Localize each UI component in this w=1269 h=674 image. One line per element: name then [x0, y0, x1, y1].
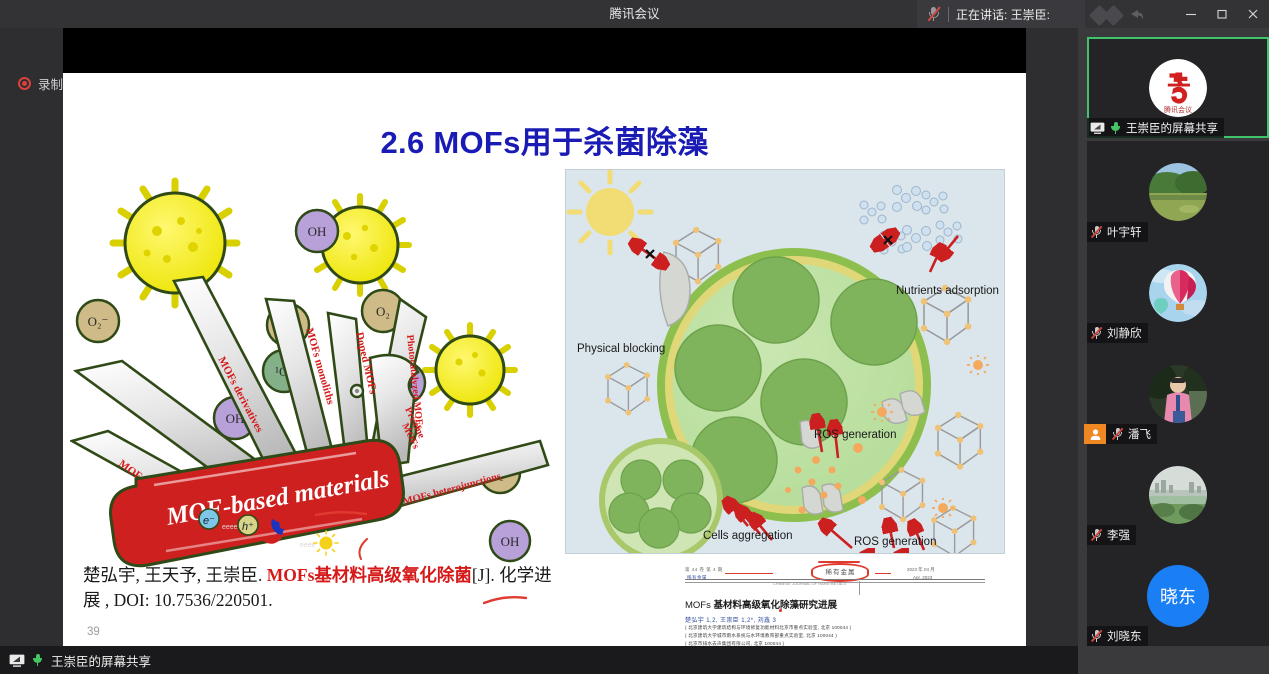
paper-affiliation-2: ( 北京建筑大学城市雨水系统与水环境教育部重点实验室, 北京 100044 ) — [685, 633, 837, 639]
avatar — [1149, 264, 1207, 322]
avatar: 晓东 — [1147, 565, 1209, 627]
slide-citation: 楚弘宇, 王天予, 王崇臣. MOFs基材料高级氧化除菌[J]. 化学进展 , … — [83, 563, 553, 614]
participant-name: 王崇臣的屏幕共享 — [1126, 120, 1218, 136]
bottom-status-bar: 王崇臣的屏幕共享 — [0, 646, 1078, 674]
paper-authors: 楚弘宇 1,2, 王崇臣 1,2*, 刘鑫 3 — [685, 615, 776, 624]
annotation-line-right — [875, 573, 891, 574]
slide-title: 2.6 MOFs用于杀菌除藻 — [63, 117, 1026, 162]
participant-name: 叶宇轩 — [1107, 224, 1142, 240]
paper-title: MOFs 基材料高级氧化除藻研究进展 — [685, 597, 837, 611]
microphone-muted-icon — [1090, 528, 1103, 542]
svg-text:OH: OH — [501, 534, 520, 549]
participant-tile-4[interactable]: 潘飞 — [1087, 343, 1269, 444]
paper-meta-right: 2023 年 04 月 — [907, 567, 935, 573]
active-speaker-label: 正在讲话: 王崇臣: — [956, 6, 1050, 23]
avatar — [1149, 466, 1207, 524]
participant-namebar: 李强 — [1087, 525, 1136, 545]
participant-name: 潘飞 — [1128, 426, 1151, 442]
microphone-muted-icon — [926, 6, 941, 22]
participant-namebar: 刘静欣 — [1087, 323, 1148, 343]
diamond-right-icon[interactable] — [1103, 5, 1124, 26]
paper-side-mark — [859, 581, 860, 595]
pen-annotation-1 — [315, 505, 367, 513]
host-badge-icon — [1084, 424, 1106, 444]
slide-page-number: 39 — [87, 626, 100, 638]
annotation-dot — [779, 609, 782, 612]
svg-text:OH: OH — [308, 224, 327, 239]
participant-tile-3[interactable]: 刘静欣 — [1087, 242, 1269, 343]
maximize-button[interactable] — [1206, 0, 1237, 28]
participant-tile-6[interactable]: 晓东 刘晓东 — [1087, 545, 1269, 646]
active-speaker-chip: 正在讲话: 王崇臣: — [917, 0, 1085, 28]
paper-title-main: 基材料高级氧化除藻研究进展 — [714, 600, 838, 611]
undo-arrow-icon[interactable] — [1126, 8, 1145, 23]
avatar: 腾讯会议 — [1149, 59, 1207, 117]
svg-text:O₂⁻: O₂⁻ — [88, 314, 109, 329]
microphone-muted-icon — [1111, 427, 1124, 441]
paper-header-rule2 — [685, 582, 985, 583]
meeting-window: 腾讯会议 正在讲话: 王崇臣: — [0, 0, 1269, 674]
label-cells-aggregation: Cells aggregation — [703, 530, 793, 542]
record-dot-icon — [18, 77, 31, 90]
annotation-stroke — [818, 561, 860, 563]
window-controls[interactable] — [1175, 0, 1269, 28]
participant-name: 刘晓东 — [1107, 628, 1142, 644]
shared-screen-area: 录制中 2.6 MOFs用于杀菌除藻 — [0, 28, 1078, 674]
citation-highlight: MOFs基材料高级氧化除菌 — [267, 565, 472, 585]
label-nutrients-adsorption: Nutrients adsorption — [896, 285, 999, 297]
presentation-slide: 2.6 MOFs用于杀菌除藻 — [63, 73, 1026, 656]
window-glyph-cluster[interactable] — [1090, 4, 1162, 26]
figure-algae-mechanism: Physical blocking Nutrients adsorption R… — [565, 169, 1005, 554]
chip-divider — [948, 7, 949, 22]
pen-annotation-3 — [483, 593, 527, 605]
pen-annotation-2 — [353, 538, 373, 560]
svg-text:e⁻: e⁻ — [203, 515, 215, 527]
participant-panel[interactable]: 腾讯会议 王崇臣的屏幕共享 — [1078, 28, 1269, 674]
svg-text:eeee: eeee — [222, 524, 238, 531]
annotation-line-left — [725, 573, 773, 574]
microphone-muted-icon — [1090, 326, 1103, 340]
screen-share-icon — [9, 654, 24, 667]
participant-namebar: 刘晓东 — [1087, 626, 1148, 646]
citation-authors: 楚弘宇, 王天予, 王崇臣. — [83, 565, 262, 585]
close-button[interactable] — [1237, 0, 1268, 28]
avatar — [1149, 163, 1207, 221]
paper-affiliation-1: ( 北京建筑大学建筑结构与环境修复功能材料北京市重点实验室, 北京 100044… — [685, 625, 851, 631]
avatar-initials: 晓东 — [1160, 583, 1196, 609]
microphone-on-icon — [31, 653, 44, 667]
svg-text:h⁺: h⁺ — [242, 521, 254, 533]
paper-meta-left: 第 44 卷 第 4 期 — [685, 567, 723, 573]
microphone-muted-icon — [1090, 225, 1103, 239]
participant-tile-2[interactable]: 叶宇轩 — [1087, 141, 1269, 242]
participant-name: 李强 — [1107, 527, 1130, 543]
shared-video-frame: 2.6 MOFs用于杀菌除藻 — [63, 28, 1026, 648]
paper-preview-thumbnail: 第 44 卷 第 4 期 稀有金属 2023 年 04 月 Apr. 2023 … — [663, 561, 1008, 653]
participant-tile-5[interactable]: 李强 — [1087, 444, 1269, 545]
bottom-share-label: 王崇臣的屏幕共享 — [51, 651, 151, 670]
participant-name: 刘静欣 — [1107, 325, 1142, 341]
title-bar: 腾讯会议 正在讲话: 王崇臣: — [0, 0, 1269, 28]
screen-share-icon — [1090, 122, 1105, 135]
paper-meta-left2: 稀有金属 — [687, 575, 707, 581]
paper-header-rule — [685, 579, 985, 580]
paper-title-prefix: MOFs — [685, 600, 714, 611]
label-ros-generation-1: ROS generation — [814, 429, 896, 441]
minimize-button[interactable] — [1175, 0, 1206, 28]
microphone-muted-icon — [1090, 629, 1103, 643]
label-physical-blocking: Physical blocking — [577, 343, 665, 355]
label-ros-generation-2: ROS generation — [854, 536, 936, 548]
svg-text:O₂: O₂ — [376, 304, 390, 319]
svg-text:腾讯会议: 腾讯会议 — [1164, 105, 1192, 114]
sun-icon — [569, 171, 651, 253]
avatar — [1149, 365, 1207, 423]
participant-namebar: 王崇臣的屏幕共享 — [1087, 118, 1224, 138]
participant-namebar: 叶宇轩 — [1087, 222, 1148, 242]
participant-namebar: 潘飞 — [1087, 424, 1157, 444]
participant-tile-screenshare[interactable]: 腾讯会议 王崇臣的屏幕共享 — [1087, 37, 1269, 138]
microphone-on-icon — [1109, 121, 1122, 135]
